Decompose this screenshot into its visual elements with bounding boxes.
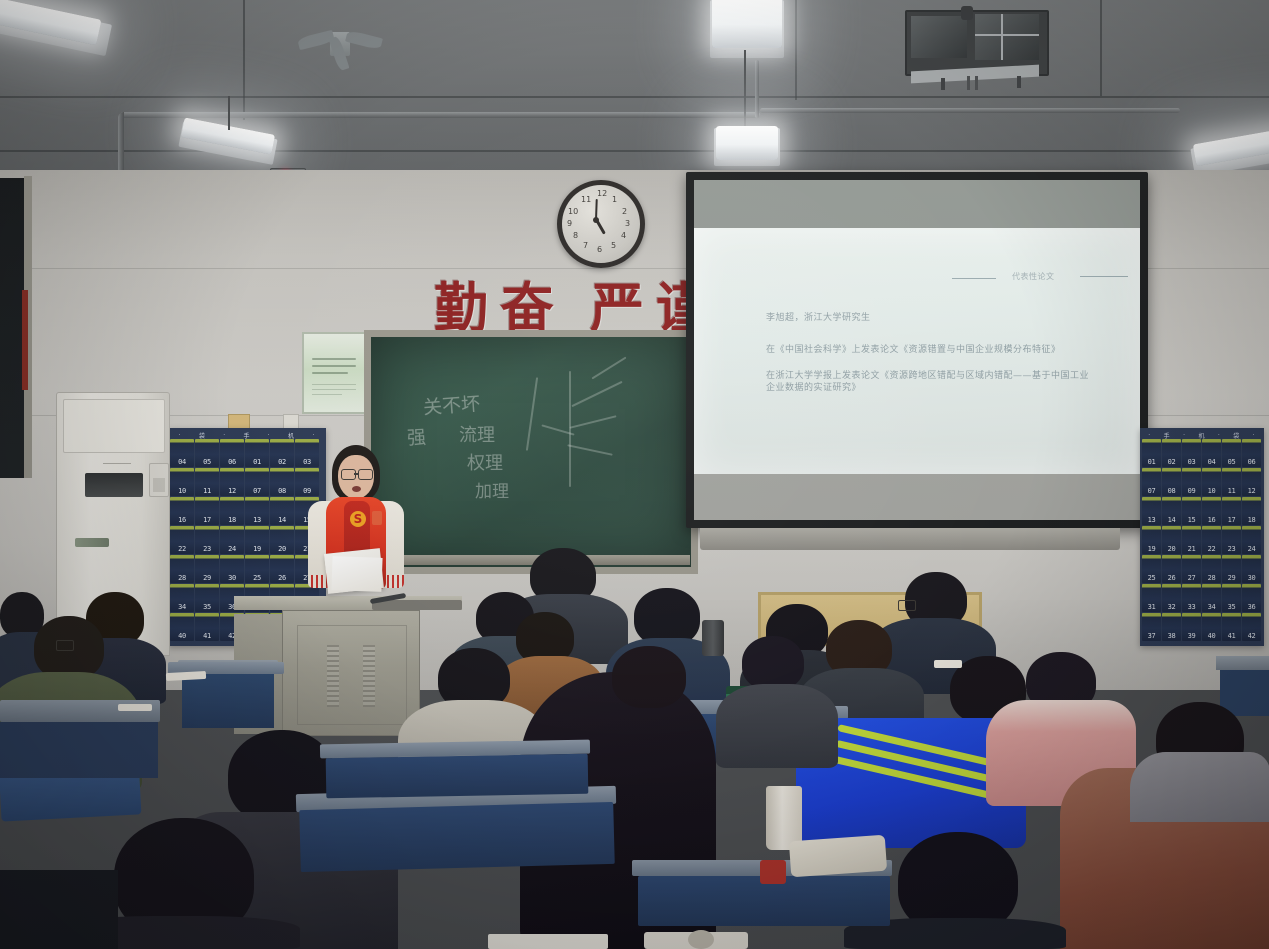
papers-on-desk[interactable] xyxy=(934,660,962,668)
phone-pocket[interactable]: 30 xyxy=(1242,555,1261,583)
student-head xyxy=(742,636,804,690)
phone-pocket[interactable]: 28 xyxy=(170,555,194,583)
projection-screen: 代表性论文 李旭超，浙江大学研究生 在《中国社会科学》上发表论文《资源错置与中国… xyxy=(686,172,1148,528)
light-suspension-rod xyxy=(744,50,746,128)
glasses-icon xyxy=(898,600,916,611)
wall-poster xyxy=(302,332,368,414)
phone-pocket[interactable]: 10 xyxy=(1202,468,1221,496)
phone-pocket[interactable]: 40 xyxy=(1202,613,1221,641)
light-suspension-rod xyxy=(228,96,230,130)
phone-pocket[interactable]: 10 xyxy=(170,468,194,496)
phone-pocket[interactable]: 39 xyxy=(1182,613,1201,641)
phone-pocket[interactable]: 16 xyxy=(1202,497,1221,525)
front-desk-body xyxy=(182,672,274,728)
screen-surface: 代表性论文 李旭超，浙江大学研究生 在《中国社会科学》上发表论文《资源错置与中国… xyxy=(694,180,1140,520)
student-body xyxy=(716,684,838,768)
papers-on-desk[interactable] xyxy=(789,835,887,878)
phone-organizer-right[interactable]: · 手 · 机 · 袋 · 01020304050607080910111213… xyxy=(1140,428,1264,646)
presenter-mouth xyxy=(352,486,361,492)
phone-pocket[interactable]: 35 xyxy=(1222,584,1241,612)
jacket-logo: S xyxy=(350,511,366,527)
phone-pocket[interactable]: 37 xyxy=(1142,613,1161,641)
phone-pocket[interactable]: 13 xyxy=(245,497,269,525)
door-red-strip xyxy=(22,290,28,390)
phone-pocket[interactable]: 21 xyxy=(1182,526,1201,554)
phone-pocket[interactable]: 18 xyxy=(1242,497,1261,525)
phone-pocket[interactable]: 30 xyxy=(220,555,244,583)
glasses-icon xyxy=(358,469,373,480)
dot-icon: · xyxy=(1253,432,1256,439)
phone-pocket[interactable]: 23 xyxy=(195,526,219,554)
phone-pocket[interactable]: 22 xyxy=(170,526,194,554)
fluorescent-light xyxy=(716,126,778,160)
ac-top-panel xyxy=(63,399,165,453)
slide-line-4: 企业数据的实证研究》 xyxy=(766,380,861,393)
foreground-chair xyxy=(0,870,118,949)
ac-air-vent xyxy=(85,473,143,497)
phone-pocket[interactable]: 12 xyxy=(1242,468,1261,496)
phone-pocket[interactable]: 18 xyxy=(220,497,244,525)
screen-base-rail xyxy=(700,528,1120,550)
slide-line-1: 李旭超，浙江大学研究生 xyxy=(766,310,871,323)
phone-pocket[interactable]: 06 xyxy=(1242,439,1261,467)
phone-pocket[interactable]: 29 xyxy=(1222,555,1241,583)
red-object-on-desk[interactable] xyxy=(760,860,786,884)
phone-pocket[interactable]: 01 xyxy=(245,439,269,467)
phone-pocket[interactable]: 33 xyxy=(1182,584,1201,612)
student-desk-body xyxy=(326,754,589,799)
ceiling-seam xyxy=(243,0,245,120)
student-grey-collar xyxy=(1130,752,1269,822)
dot-icon: · xyxy=(223,432,226,439)
phone-pocket[interactable]: 25 xyxy=(1142,555,1161,583)
organizer-header-left: · 袋 · 手 · 机 · xyxy=(170,431,324,439)
phone-pocket[interactable]: 05 xyxy=(1222,439,1241,467)
phone-pocket[interactable]: 20 xyxy=(270,526,294,554)
phone-pocket[interactable]: 17 xyxy=(1222,497,1241,525)
phone-pocket[interactable]: 16 xyxy=(170,497,194,525)
ceiling-seam xyxy=(795,0,797,100)
organizer-grid-right: 0102030405060708091011121314151617181920… xyxy=(1142,439,1262,641)
phone-pocket[interactable]: 23 xyxy=(1222,526,1241,554)
phone-pocket[interactable]: 34 xyxy=(170,584,194,612)
phone-pocket[interactable]: 08 xyxy=(1162,468,1181,496)
phone-pocket[interactable]: 01 xyxy=(1142,439,1161,467)
lectern-podium[interactable] xyxy=(282,610,420,736)
student-desk-body xyxy=(0,722,158,778)
ceiling-seam xyxy=(0,96,1269,98)
presenter: S xyxy=(300,445,410,610)
phone-pocket[interactable]: 20 xyxy=(1162,526,1181,554)
phone-pocket[interactable]: 28 xyxy=(1202,555,1221,583)
phone-pocket[interactable]: 11 xyxy=(195,468,219,496)
ceiling-conduit-pipe xyxy=(760,108,1180,113)
papers-on-desk[interactable] xyxy=(488,934,608,949)
phone-pocket[interactable]: 06 xyxy=(220,439,244,467)
phone-pocket[interactable]: 04 xyxy=(170,439,194,467)
projector-drop-pipe xyxy=(755,60,759,118)
slide-line-2: 在《中国社会科学》上发表论文《资源错置与中国企业规模分布特征》 xyxy=(766,342,1061,355)
jacket-patch xyxy=(372,511,382,525)
screen-top-shade xyxy=(694,180,1140,228)
dot-icon: · xyxy=(1183,432,1186,439)
phone-pocket[interactable]: 42 xyxy=(1242,613,1261,641)
phone-pocket[interactable]: 02 xyxy=(1162,439,1181,467)
ceiling-fan xyxy=(300,18,380,66)
phone-pocket[interactable]: 25 xyxy=(245,555,269,583)
desk-object[interactable] xyxy=(688,930,714,949)
phone-pocket[interactable]: 11 xyxy=(1222,468,1241,496)
phone-pocket[interactable]: 35 xyxy=(195,584,219,612)
student-head xyxy=(612,646,686,708)
phone-pocket[interactable]: 24 xyxy=(1242,526,1261,554)
phone-pocket[interactable]: 41 xyxy=(1222,613,1241,641)
side-desk-top xyxy=(1216,656,1269,670)
phone-pocket[interactable]: 32 xyxy=(1162,584,1181,612)
phone-pocket[interactable]: 05 xyxy=(195,439,219,467)
blackboard: 关不坏 强 流理 权理 加理 xyxy=(364,330,698,574)
phone-pocket[interactable]: 15 xyxy=(1182,497,1201,525)
phone-pocket[interactable]: 02 xyxy=(270,439,294,467)
ac-control-panel[interactable] xyxy=(149,463,169,497)
screen-bottom-shade xyxy=(694,474,1140,520)
phone-pocket[interactable]: 29 xyxy=(195,555,219,583)
dot-icon: · xyxy=(312,432,315,439)
phone-pocket[interactable]: 08 xyxy=(270,468,294,496)
papers-held xyxy=(331,556,382,592)
phone-pocket[interactable]: 34 xyxy=(1202,584,1221,612)
dot-icon: · xyxy=(1148,432,1151,439)
fluorescent-light xyxy=(712,0,782,48)
phone-pocket[interactable]: 19 xyxy=(1142,526,1161,554)
glasses-icon xyxy=(56,640,74,651)
glasses-bridge xyxy=(354,473,358,475)
phone-pocket[interactable]: 36 xyxy=(1242,584,1261,612)
dot-icon: · xyxy=(1218,432,1221,439)
student-desk-body xyxy=(299,802,615,872)
phone-pocket[interactable]: 12 xyxy=(220,468,244,496)
phone-pocket[interactable]: 07 xyxy=(1142,468,1161,496)
phone-pocket[interactable]: 04 xyxy=(1202,439,1221,467)
ac-brand-label xyxy=(75,538,109,547)
bottle[interactable] xyxy=(702,620,724,656)
phone-pocket[interactable]: 14 xyxy=(1162,497,1181,525)
phone-pocket[interactable]: 13 xyxy=(1142,497,1161,525)
ceiling-seam xyxy=(0,150,1269,152)
phone-pocket[interactable]: 17 xyxy=(195,497,219,525)
classroom-photo: 勤 奋 严 谨 12 1 2 3 4 5 6 7 8 9 10 11 关不坏 强… xyxy=(0,0,1269,949)
phone-pocket[interactable]: 31 xyxy=(1142,584,1161,612)
glasses-icon xyxy=(341,469,356,480)
phone-pocket[interactable]: 09 xyxy=(1182,468,1201,496)
phone-pocket[interactable]: 40 xyxy=(170,613,194,641)
dot-icon: · xyxy=(268,432,271,439)
slide-header-note: 代表性论文 xyxy=(1012,271,1055,282)
phone-pocket[interactable]: 26 xyxy=(270,555,294,583)
projected-slide: 代表性论文 李旭超，浙江大学研究生 在《中国社会科学》上发表论文《资源错置与中国… xyxy=(694,228,1140,474)
phone-pocket[interactable]: 27 xyxy=(1182,555,1201,583)
ceiling-conduit-pipe xyxy=(120,112,760,118)
phone-pocket[interactable]: 38 xyxy=(1162,613,1181,641)
dot-icon: · xyxy=(179,432,182,439)
phone-pocket[interactable]: 07 xyxy=(245,468,269,496)
organizer-header-right: · 手 · 机 · 袋 · xyxy=(1142,431,1262,439)
wall-clock: 12 1 2 3 4 5 6 7 8 9 10 11 xyxy=(557,180,645,268)
phone-pocket[interactable]: 19 xyxy=(245,526,269,554)
ac-slit xyxy=(103,463,131,464)
phone-pocket[interactable]: 03 xyxy=(1182,439,1201,467)
phone-pocket[interactable]: 24 xyxy=(220,526,244,554)
phone-pocket[interactable]: 26 xyxy=(1162,555,1181,583)
phone-pocket[interactable]: 14 xyxy=(270,497,294,525)
phone-pocket[interactable]: 22 xyxy=(1202,526,1221,554)
papers-on-desk[interactable] xyxy=(118,704,152,711)
phone-pocket[interactable]: 41 xyxy=(195,613,219,641)
ceiling-projector xyxy=(905,6,1045,88)
ceiling-seam xyxy=(1100,0,1102,96)
